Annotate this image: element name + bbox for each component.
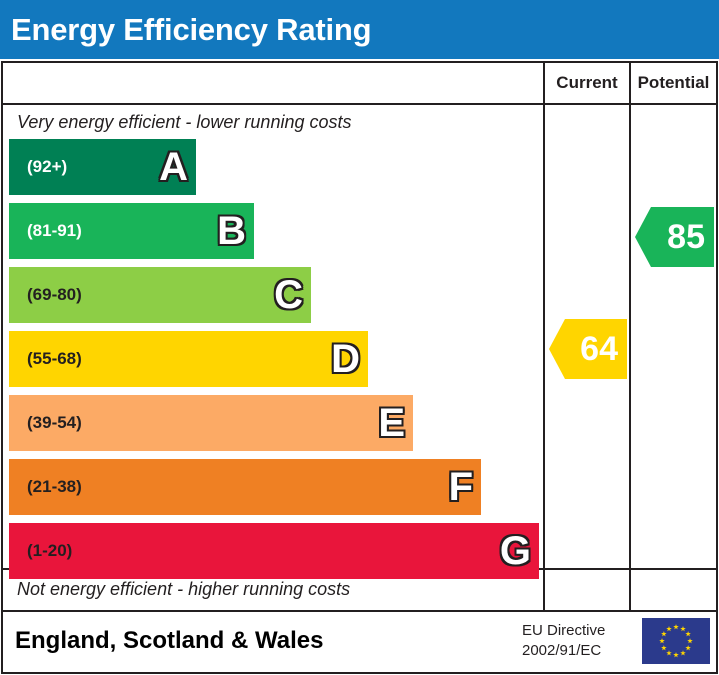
rating-bands: (92+) A (81-91) B (69-80) C (55-68) D (3… (3, 139, 543, 569)
column-divider-current (543, 63, 545, 610)
band-f-range: (21-38) (9, 477, 82, 497)
band-g: (1-20) G (9, 523, 539, 579)
column-header-potential: Potential (631, 63, 716, 103)
band-b-range: (81-91) (9, 221, 82, 241)
band-d-range: (55-68) (9, 349, 82, 369)
band-e: (39-54) E (9, 395, 413, 451)
caption-efficient: Very energy efficient - lower running co… (3, 105, 543, 139)
band-a-range: (92+) (9, 157, 67, 177)
title-bar: Energy Efficiency Rating (0, 0, 719, 59)
band-g-letter: G (500, 531, 531, 571)
band-b-letter: B (217, 211, 246, 251)
band-c-range: (69-80) (9, 285, 82, 305)
page-title: Energy Efficiency Rating (0, 14, 371, 45)
band-b: (81-91) B (9, 203, 254, 259)
band-c: (69-80) C (9, 267, 311, 323)
band-e-letter: E (378, 403, 405, 443)
column-header-current: Current (545, 63, 629, 103)
potential-rating-value: 85 (667, 220, 705, 254)
band-f-letter: F (449, 467, 473, 507)
footer-bar: England, Scotland & Wales EU Directive 2… (1, 612, 718, 674)
band-e-range: (39-54) (9, 413, 82, 433)
eu-directive-line2: 2002/91/EC (522, 641, 605, 661)
current-rating-marker: 64 (549, 319, 627, 379)
band-a-letter: A (159, 147, 188, 187)
band-a: (92+) A (9, 139, 196, 195)
rating-table: Current Potential Very energy efficient … (1, 61, 718, 612)
potential-rating-marker: 85 (635, 207, 714, 267)
energy-efficiency-certificate: Energy Efficiency Rating Current Potenti… (0, 0, 719, 675)
eu-flag-icon (642, 618, 710, 664)
eu-directive-label: EU Directive 2002/91/EC (522, 612, 605, 670)
band-f: (21-38) F (9, 459, 481, 515)
band-g-range: (1-20) (9, 541, 72, 561)
band-c-letter: C (274, 275, 303, 315)
column-divider-potential (629, 63, 631, 610)
current-rating-value: 64 (580, 332, 618, 366)
region-label: England, Scotland & Wales (15, 612, 323, 670)
band-d-letter: D (331, 339, 360, 379)
band-d: (55-68) D (9, 331, 368, 387)
eu-directive-line1: EU Directive (522, 621, 605, 641)
